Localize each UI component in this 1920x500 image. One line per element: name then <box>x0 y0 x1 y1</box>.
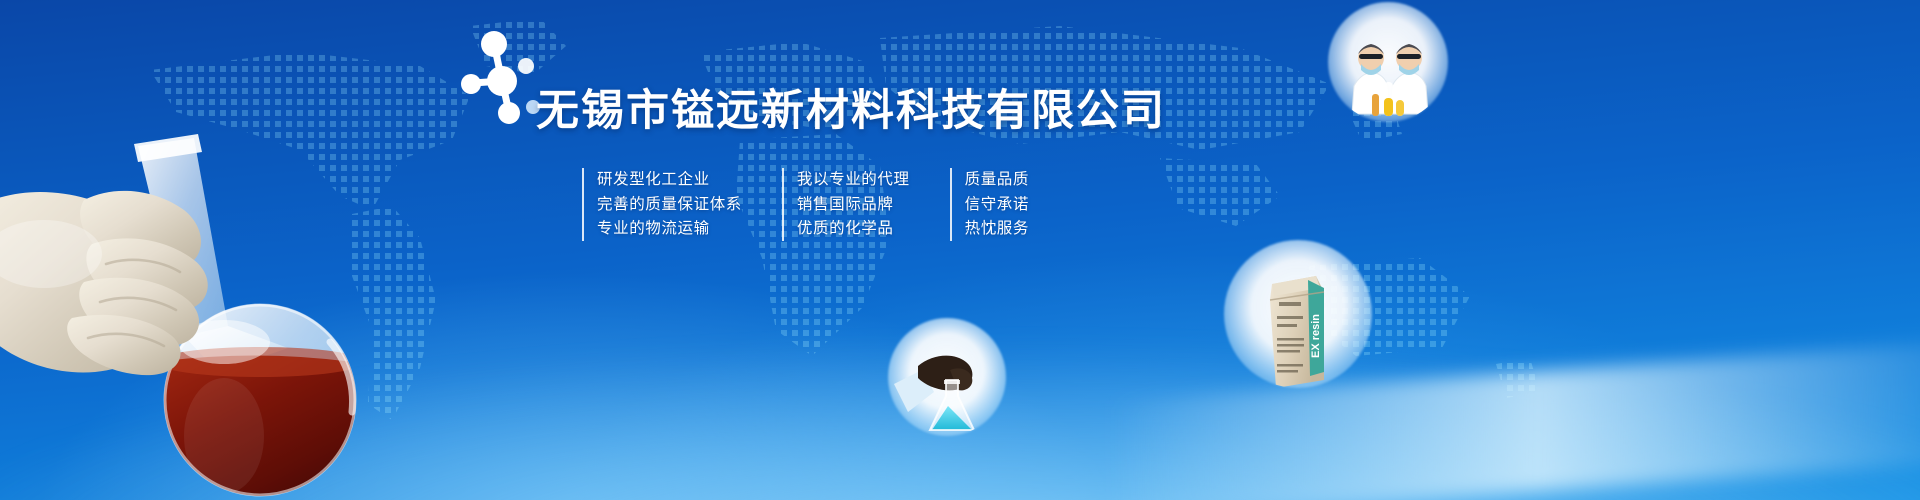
resin-bag-icon: EX resin <box>1224 240 1372 388</box>
erlenmeyer-flask-icon <box>888 318 1006 436</box>
company-banner: 无锡市镒远新材料科技有限公司 研发型化工企业 完善的质量保证体系 专业的物流运输… <box>0 0 1920 500</box>
badge-blue-flask <box>888 318 1006 436</box>
slogan-column-2: 我以专业的代理 销售国际品牌 优质的化学品 <box>782 168 910 241</box>
slogan-line: 完善的质量保证体系 <box>597 193 742 217</box>
slogan-column-3: 质量品质 信守承诺 热忱服务 <box>950 168 1029 241</box>
slogan-line: 研发型化工企业 <box>597 168 742 192</box>
badge-content: EX resin <box>1224 240 1372 388</box>
slogan-line: 专业的物流运输 <box>597 217 742 241</box>
svg-text:EX resin: EX resin <box>1310 314 1322 358</box>
badge-content <box>1328 2 1448 122</box>
slogan-line: 热忱服务 <box>965 217 1029 241</box>
badge-resin-bag: EX resin <box>1224 240 1372 388</box>
slogan-line: 信守承诺 <box>965 193 1029 217</box>
slogan-columns: 研发型化工企业 完善的质量保证体系 专业的物流运输 我以专业的代理 销售国际品牌… <box>582 168 1296 241</box>
page-title: 无锡市镒远新材料科技有限公司 <box>536 88 1296 135</box>
badge-scientists <box>1328 2 1448 122</box>
slogan-column-1: 研发型化工企业 完善的质量保证体系 专业的物流运输 <box>582 168 742 241</box>
banner-text-block: 无锡市镒远新材料科技有限公司 研发型化工企业 完善的质量保证体系 专业的物流运输… <box>536 88 1296 241</box>
slogan-line: 销售国际品牌 <box>797 193 910 217</box>
gloved-hand-flask-image <box>0 104 418 500</box>
badge-content <box>888 318 1006 436</box>
slogan-line: 优质的化学品 <box>797 217 910 241</box>
slogan-line: 质量品质 <box>965 168 1029 192</box>
slogan-line: 我以专业的代理 <box>797 168 910 192</box>
scientists-icon <box>1328 2 1448 122</box>
